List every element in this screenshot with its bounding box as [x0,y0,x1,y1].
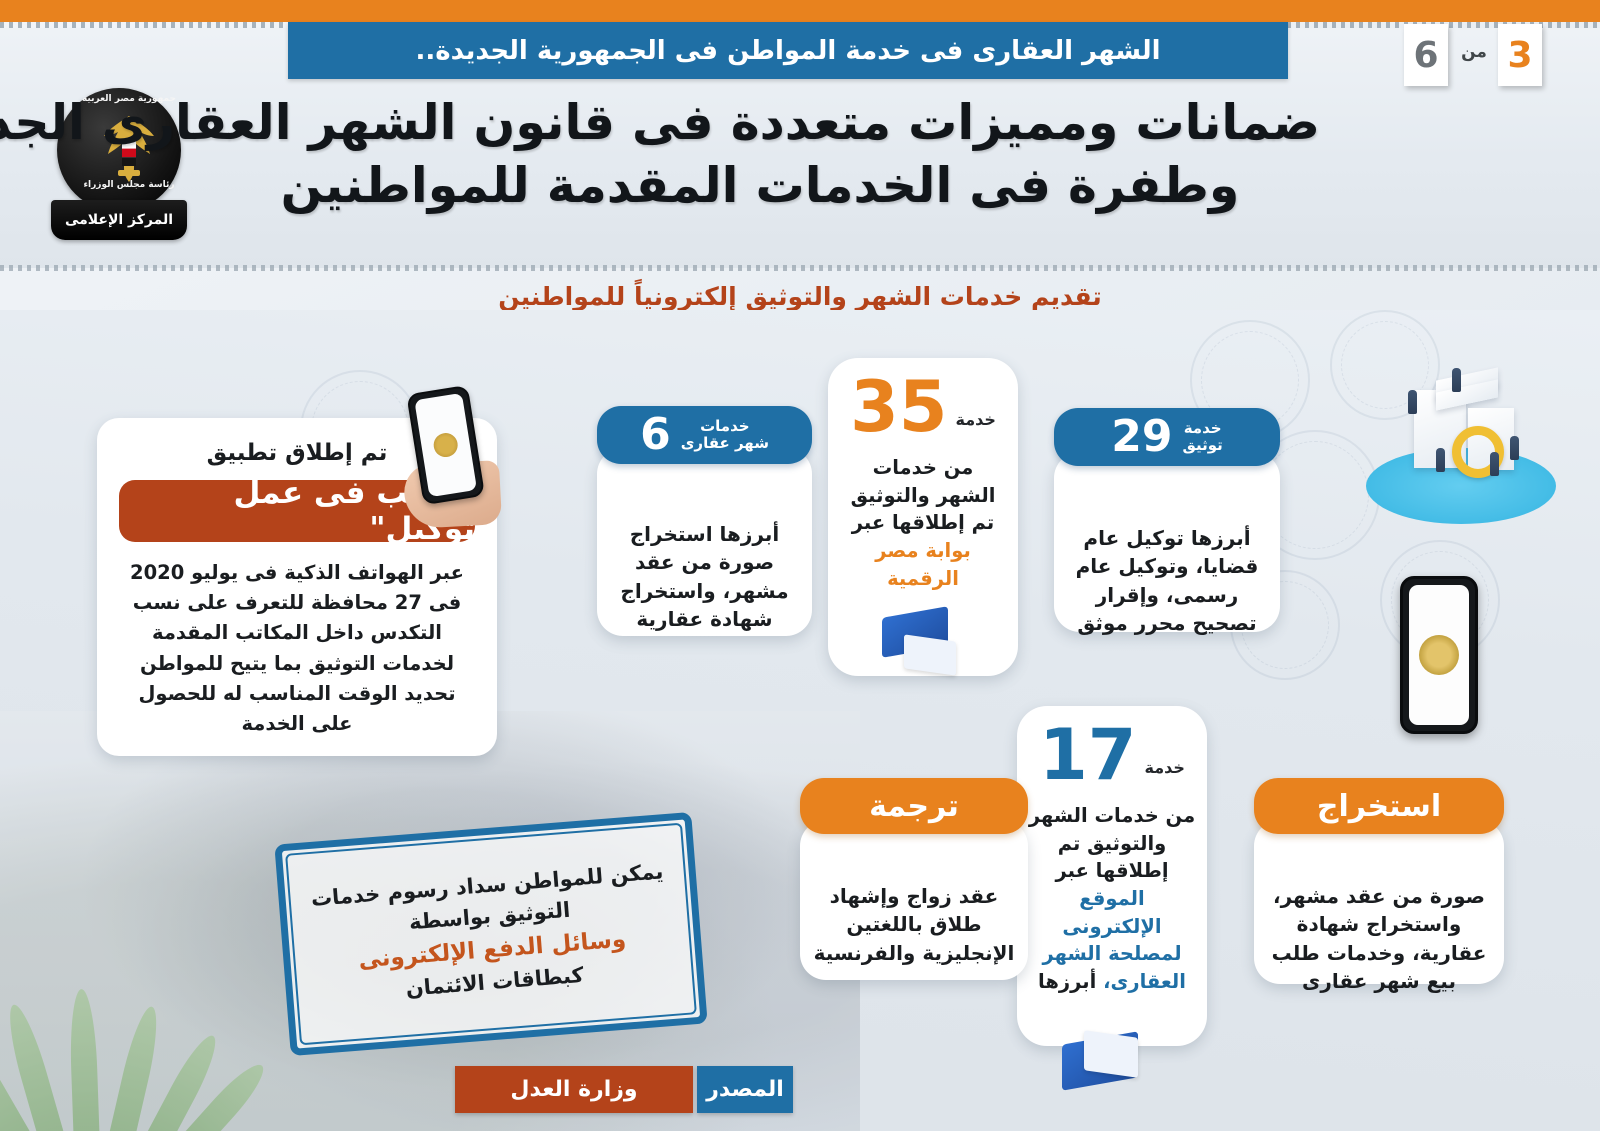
page-of-label: من [1456,42,1492,62]
card-extraction: صورة من عقد مشهر، واستخراج شهادة عقارية،… [1254,820,1504,984]
infographic-page: الشهر العقارى فى خدمة المواطن فى الجمهور… [0,0,1600,1131]
illustration-person [1436,448,1445,472]
document-shape [1084,1030,1138,1078]
smartphone-illustration-left [389,380,518,526]
card-services-17-body: من خدمات الشهر والتوثيق تم إطلاقها عبر ا… [1027,802,1197,996]
card-services-17-number: 17 [1039,722,1136,789]
card-services-35-body-plain: من خدمات الشهر والتوثيق تم إطلاقها عبر [851,456,996,534]
card-services-29-unit-line1: خدمة [1184,419,1222,437]
header-ribbon: الشهر العقارى فى خدمة المواطن فى الجمهور… [288,22,1288,79]
phone-body [1400,576,1478,734]
logo-ring-bottom-text: رئاسة مجلس الوزراء [57,180,201,190]
card-services-29-body: أبرزها توكيل عام قضايا، وتوكيل عام رسمى،… [1068,524,1266,638]
card-services-35-body: من خدمات الشهر والتوثيق تم إطلاقها عبر ب… [840,454,1006,592]
card-extraction-body: صورة من عقد مشهر، واستخراج شهادة عقارية،… [1266,882,1492,996]
top-orange-bar [0,0,1600,22]
card-services-6-unit: خدمات شهر عقارى [681,418,769,453]
stamp-text: يمكن للمواطن سداد رسوم خدمات التوثيق بوا… [298,836,684,1033]
fingerprint-signing-illustration [878,612,974,676]
card-services-29-unit-line2: توثيق [1182,436,1222,454]
card-services-6-unit-line2: شهر عقارى [681,434,769,452]
page-counter: 3 من 6 [1380,20,1580,90]
logo-banner: المركز الإعلامى [51,200,187,240]
document-signing-illustration [1062,1022,1172,1108]
logo-banner-text: المركز الإعلامى [65,212,173,228]
source-label-box: المصدر [697,1066,793,1113]
header-dotted-divider [0,265,1600,271]
illustration-person [1408,390,1417,414]
ribbon-title: الشهر العقارى فى خدمة المواطن فى الجمهور… [415,36,1160,66]
payment-stamp-box: يمكن للمواطن سداد رسوم خدمات التوثيق بوا… [274,812,707,1056]
illustration-person [1510,436,1519,460]
card-services-17: خدمة 17 من خدمات الشهر والتوثيق تم إطلاق… [1017,706,1207,1046]
source-value: وزارة العدل [510,1077,637,1102]
card-services-6-body: أبرزها استخراج صورة من عقد مشهر، واستخرا… [611,520,798,634]
card-services-6-header: خدمات شهر عقارى 6 [597,406,812,464]
card-services-17-numrow: خدمة 17 [1017,722,1207,789]
illustration-person [1452,368,1461,392]
card-services-17-body-plain: من خدمات الشهر والتوثيق تم إطلاقها عبر [1029,804,1195,882]
background-plant [0,949,254,1131]
page-total: 6 [1404,24,1448,86]
card-services-35-numrow: خدمة 35 [828,374,1018,441]
phone-screen [1409,585,1469,725]
illustration-person [1490,452,1499,476]
smartphone-illustration-right [1368,566,1498,786]
source-value-box: وزارة العدل [455,1066,693,1113]
app-description: عبر الهواتف الذكية فى يوليو 2020 فى 27 م… [123,558,471,739]
card-services-29: أبرزها توكيل عام قضايا، وتوكيل عام رسمى،… [1054,452,1280,632]
page-current: 3 [1498,24,1542,86]
document-shape [904,634,956,675]
source-label: المصدر [706,1077,784,1102]
card-services-29-number: 29 [1111,415,1172,459]
page-subtitle: تقديم خدمات الشهر والتوثيق إلكترونياً لل… [0,282,1600,311]
card-services-35-number: 35 [850,374,947,441]
card-services-6-number: 6 [640,413,671,457]
card-services-35-unit: خدمة [956,410,996,441]
card-services-35-body-highlight: بوابة مصر الرقمية [875,539,971,590]
card-services-17-unit: خدمة [1145,758,1185,789]
card-services-29-unit: خدمة توثيق [1182,420,1222,455]
card-translation-header: ترجمة [800,778,1028,834]
card-translation: عقد زواج وإشهاد طلاق باللغتين الإنجليزية… [800,820,1028,980]
card-services-6: أبرزها استخراج صورة من عقد مشهر، واستخرا… [597,448,812,636]
app-emblem-icon [432,431,459,458]
app-emblem-icon [1419,635,1459,675]
card-extraction-header: استخراج [1254,778,1504,834]
page-title-line-2: وطفرة فى الخدمات المقدمة للمواطنين [200,155,1320,218]
page-title-line-1: ضمانات ومميزات متعددة فى قانون الشهر الع… [200,92,1320,155]
card-extraction-title: استخراج [1317,789,1441,824]
card-translation-title: ترجمة [869,789,959,824]
page-title: ضمانات ومميزات متعددة فى قانون الشهر الع… [200,92,1320,217]
card-translation-body: عقد زواج وإشهاد طلاق باللغتين الإنجليزية… [810,882,1018,967]
phone-screen [414,393,477,497]
card-services-6-unit-line1: خدمات [700,417,749,435]
documents-illustration [1340,352,1590,542]
card-services-17-body-tail: أبرزها [1038,970,1096,993]
card-services-29-header: خدمة توثيق 29 [1054,408,1280,466]
